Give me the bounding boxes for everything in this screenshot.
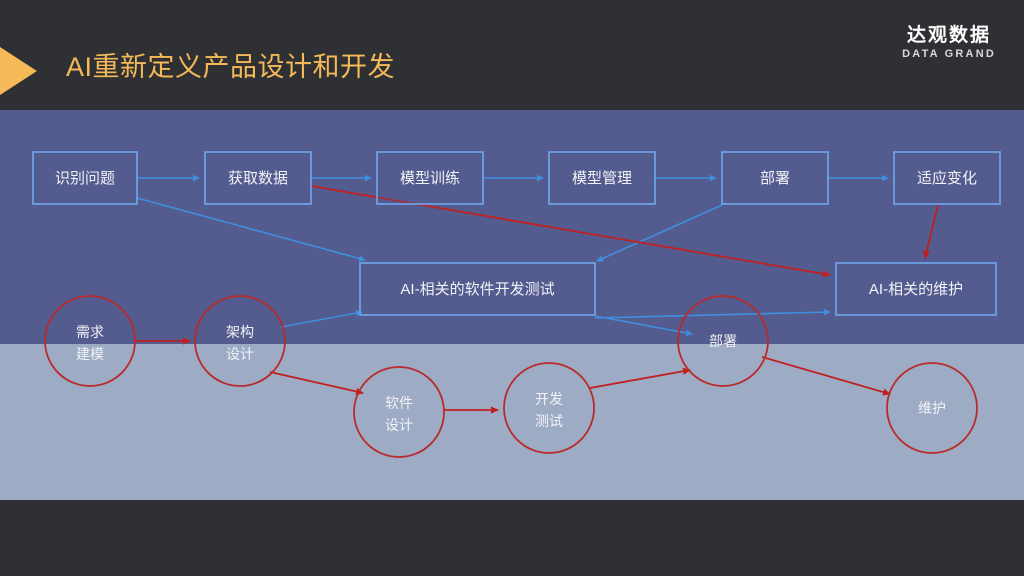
node-circle: [195, 296, 285, 386]
ai-node-n5[interactable]: 部署: [722, 152, 828, 204]
sw-node-c1[interactable]: 需求建模: [45, 296, 135, 386]
ai-node-m1[interactable]: AI-相关的软件开发测试: [360, 263, 595, 315]
node-label: 开发: [535, 391, 563, 407]
node-label: 需求: [76, 324, 104, 340]
node-label: 软件: [385, 395, 413, 411]
node-label: 模型训练: [400, 170, 460, 187]
edge-n1-m1: [137, 198, 365, 260]
node-label: 获取数据: [228, 170, 288, 187]
sw-node-c6[interactable]: 维护: [887, 363, 977, 453]
edge-c4-c5: [590, 370, 690, 388]
sw-node-c5[interactable]: 部署: [678, 296, 768, 386]
sw-node-c2[interactable]: 架构设计: [195, 296, 285, 386]
node-label: AI-相关的维护: [869, 281, 963, 298]
sw-node-c3[interactable]: 软件设计: [354, 367, 444, 457]
node-label: AI-相关的软件开发测试: [400, 281, 554, 298]
ai-node-m2[interactable]: AI-相关的维护: [836, 263, 996, 315]
edge-n6-m2: [925, 205, 938, 258]
ai-node-n6[interactable]: 适应变化: [894, 152, 1000, 204]
node-label: 部署: [760, 170, 790, 187]
node-label: 测试: [535, 413, 563, 429]
ai-node-n2[interactable]: 获取数据: [205, 152, 311, 204]
edge-c5-c6: [762, 357, 890, 394]
node-circle: [354, 367, 444, 457]
edge-m1-m2: [595, 312, 830, 318]
edge-c2-c3: [270, 372, 363, 393]
software-circle-layer: 需求建模架构设计软件设计开发测试部署维护: [45, 296, 977, 457]
node-label: 建模: [76, 346, 104, 362]
ai-node-n1[interactable]: 识别问题: [33, 152, 137, 204]
node-label: 设计: [385, 417, 413, 433]
node-label: 部署: [709, 333, 737, 349]
node-label: 识别问题: [55, 170, 115, 187]
ai-node-n4[interactable]: 模型管理: [549, 152, 655, 204]
sw-node-c4[interactable]: 开发测试: [504, 363, 594, 453]
flowchart: 识别问题获取数据模型训练模型管理部署适应变化 AI-相关的软件开发测试AI-相关…: [0, 0, 1024, 576]
edge-c2-m1: [281, 312, 362, 327]
node-label: 设计: [226, 346, 254, 362]
node-circle: [45, 296, 135, 386]
slide-canvas: AI重新定义产品设计和开发 达观数据 DATA GRAND: [0, 0, 1024, 576]
edge-m1-c5: [595, 316, 692, 334]
ai-node-n3[interactable]: 模型训练: [377, 152, 483, 204]
node-circle: [504, 363, 594, 453]
node-label: 架构: [226, 324, 254, 340]
node-label: 维护: [918, 400, 946, 416]
ai-wide-node-layer: AI-相关的软件开发测试AI-相关的维护: [360, 263, 996, 315]
node-label: 适应变化: [917, 169, 977, 187]
node-label: 模型管理: [572, 170, 632, 187]
